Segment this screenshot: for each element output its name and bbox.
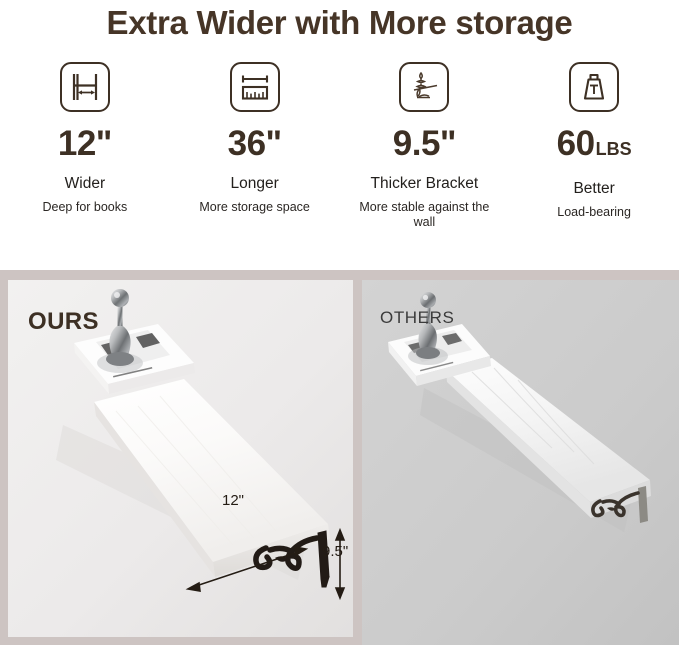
comparison-panel-ours: OURS <box>8 280 353 637</box>
feature-subtitle-load: Load-bearing <box>557 205 631 220</box>
weight-icon <box>569 62 619 112</box>
feature-title-bracket: Thicker Bracket <box>371 174 479 193</box>
feature-title-wider: Wider <box>65 174 105 193</box>
feature-subtitle-wider: Deep for books <box>42 200 127 215</box>
feature-number: 36" <box>228 126 282 162</box>
feature-unit: LBS <box>596 131 632 167</box>
dimension-label-depth: 12" <box>222 492 244 509</box>
shelf-width-icon <box>60 62 110 112</box>
label-others: OTHERS <box>380 308 454 328</box>
feature-value-longer: 36" <box>228 126 282 162</box>
comparison-section: OURS <box>0 270 679 645</box>
label-ours: OURS <box>28 308 99 336</box>
feature-value-wider: 12" <box>58 126 112 162</box>
feature-number: 12" <box>58 126 112 162</box>
bracket-icon <box>399 62 449 112</box>
comparison-panel-others: OTHERS <box>362 280 679 645</box>
feature-value-load: 60 LBS <box>557 126 632 167</box>
feature-title-longer: Longer <box>230 174 278 193</box>
feature-list: 12" Wider Deep for books <box>0 44 679 230</box>
feature-value-bracket: 9.5" <box>393 126 456 162</box>
feature-number: 9.5" <box>393 126 456 162</box>
feature-item-wider: 12" Wider Deep for books <box>0 62 170 230</box>
feature-number: 60 <box>557 126 595 162</box>
feature-item-load: 60 LBS Better Load-bearing <box>509 62 679 230</box>
feature-item-bracket: 9.5" Thicker Bracket More stable against… <box>340 62 510 230</box>
dimension-label-bracket: 9.5" <box>322 543 348 560</box>
others-shelf-photo <box>362 280 679 645</box>
page-title: Extra Wider with More storage <box>0 0 679 44</box>
feature-title-load: Better <box>573 179 614 198</box>
ruler-icon <box>230 62 280 112</box>
feature-subtitle-bracket: More stable against the wall <box>349 200 499 230</box>
feature-subtitle-longer: More storage space <box>199 200 309 215</box>
feature-item-longer: 36" Longer More storage space <box>170 62 340 230</box>
